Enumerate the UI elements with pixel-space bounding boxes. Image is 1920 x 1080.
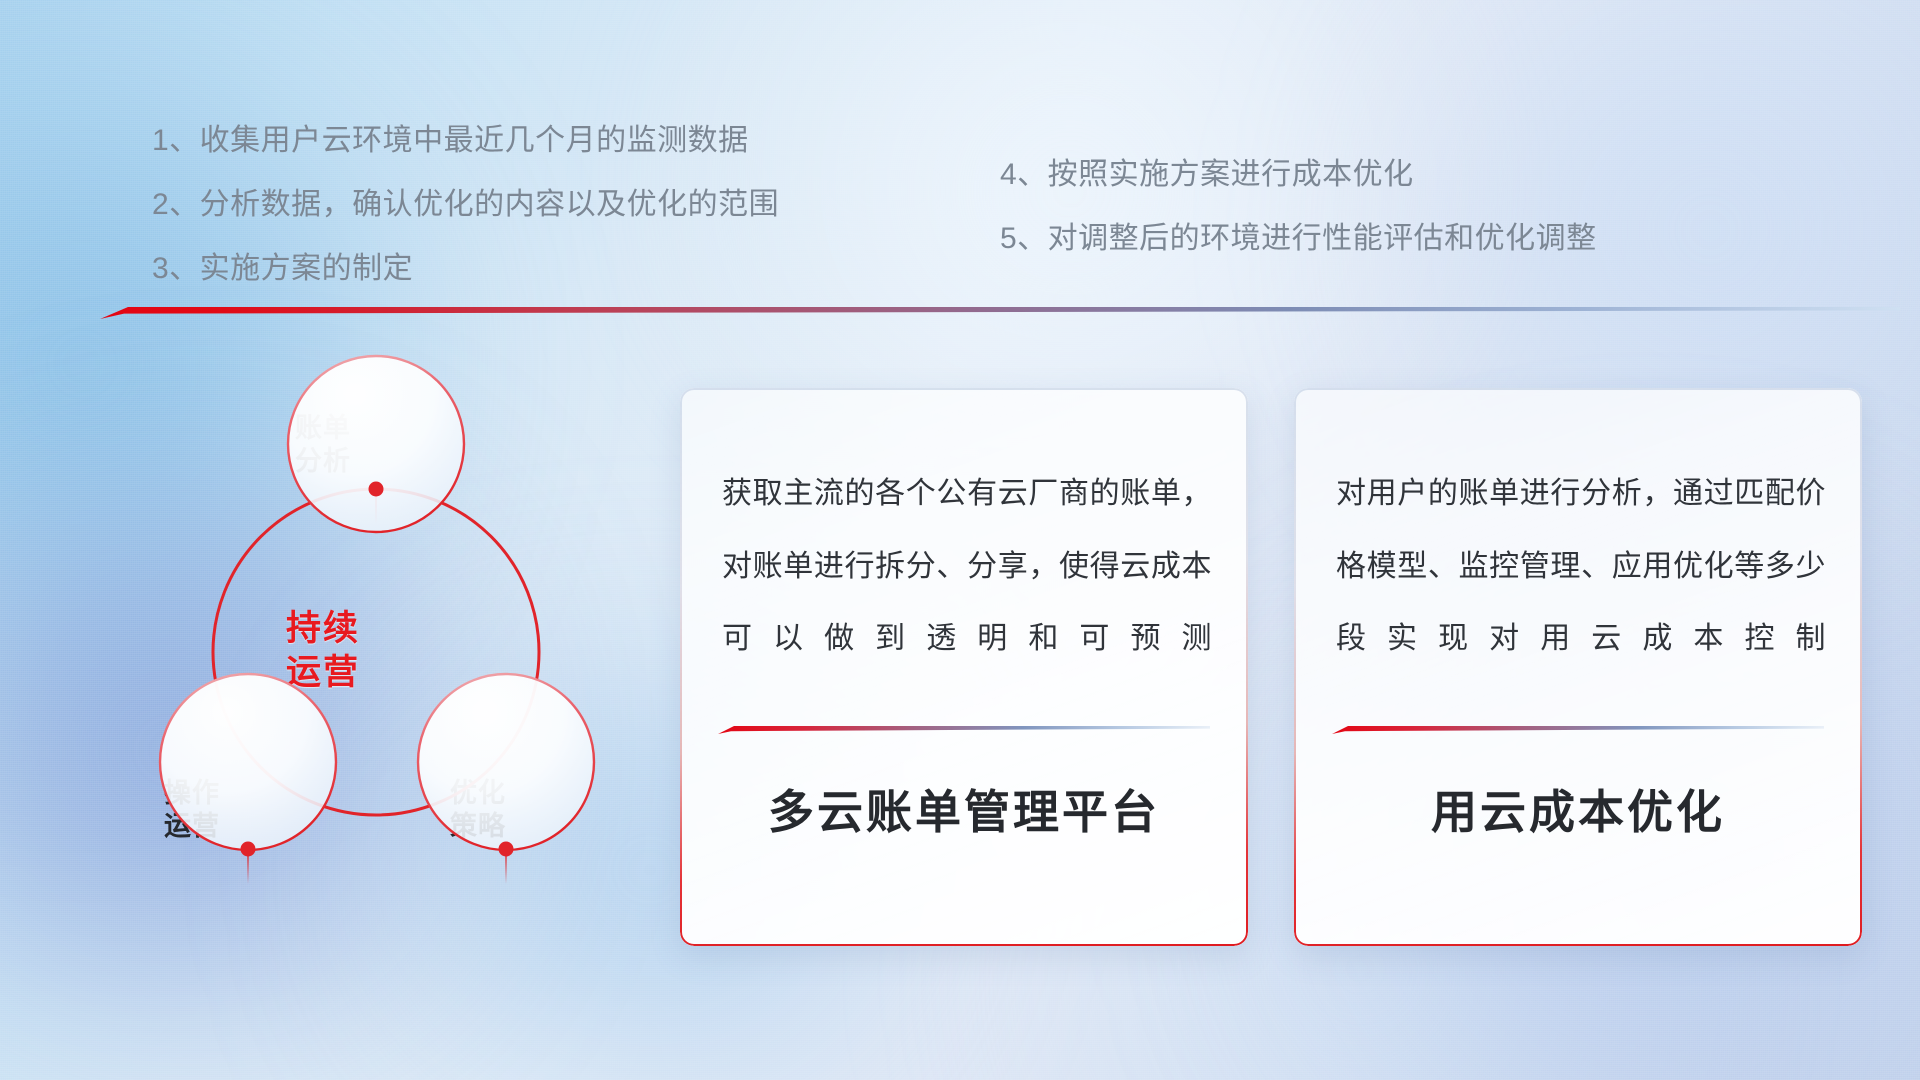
card-accent-rule [718,724,1210,735]
card-accent-rule [1332,724,1824,735]
diagram-svg [96,352,656,952]
card-body-text: 获取主流的各个公有云厂商的账单，对账单进行拆分、分享，使得云成本可以做到透明和可… [722,458,1212,676]
card-body-text: 对用户的账单进行分析，通过匹配价格模型、监控管理、应用优化等多少段实现对用云成本… [1336,458,1826,676]
card-cloud-cost-optimization[interactable]: 对用户的账单进行分析，通过匹配价格模型、监控管理、应用优化等多少段实现对用云成本… [1294,388,1862,946]
diagram-node-left-circle [160,674,336,850]
step-item-4: 4、按照实施方案进行成本优化 [1000,160,1597,190]
section-divider [100,302,1900,320]
step-item-5: 5、对调整后的环境进行性能评估和优化调整 [1000,224,1597,254]
step-item-2: 2、分析数据，确认优化的内容以及优化的范围 [152,190,779,220]
card-title: 多云账单管理平台 [680,776,1248,842]
diagram-dot-top [369,482,384,497]
step-item-1: 1、收集用户云环境中最近几个月的监测数据 [152,126,779,156]
card-multi-cloud-billing[interactable]: 获取主流的各个公有云厂商的账单，对账单进行拆分、分享，使得云成本可以做到透明和可… [680,388,1248,946]
diagram-dot-right [499,842,514,857]
diagram-dot-left [241,842,256,857]
steps-left-column: 1、收集用户云环境中最近几个月的监测数据 2、分析数据，确认优化的内容以及优化的… [152,126,779,318]
steps-right-column: 4、按照实施方案进行成本优化 5、对调整后的环境进行性能评估和优化调整 [1000,160,1597,288]
step-item-3: 3、实施方案的制定 [152,254,779,284]
continuous-operation-diagram [96,352,656,952]
diagram-node-right-circle [418,674,594,850]
card-title: 用云成本优化 [1294,776,1862,842]
diagram-node-top-circle [288,356,464,532]
